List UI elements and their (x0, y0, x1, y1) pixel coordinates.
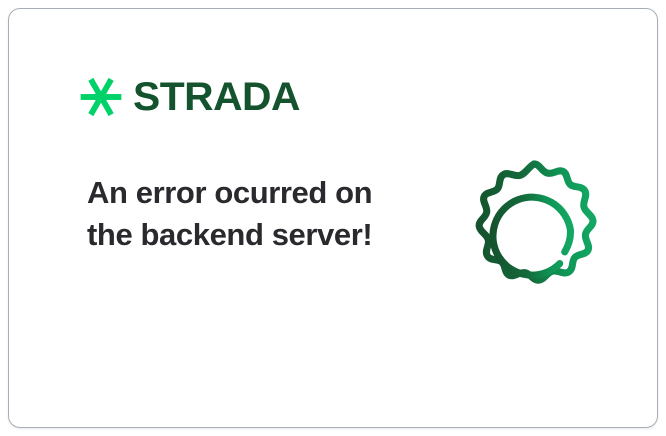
brand-logo: STRADA (79, 75, 297, 119)
error-screen: STRADA An error ocurred on the backend s… (0, 0, 666, 436)
error-message-text: An error ocurred on the backend server! (87, 172, 377, 255)
gear-icon (451, 147, 617, 317)
strada-asterisk-icon (79, 75, 123, 119)
error-card: STRADA An error ocurred on the backend s… (8, 8, 658, 428)
brand-wordmark: STRADA (133, 77, 300, 117)
